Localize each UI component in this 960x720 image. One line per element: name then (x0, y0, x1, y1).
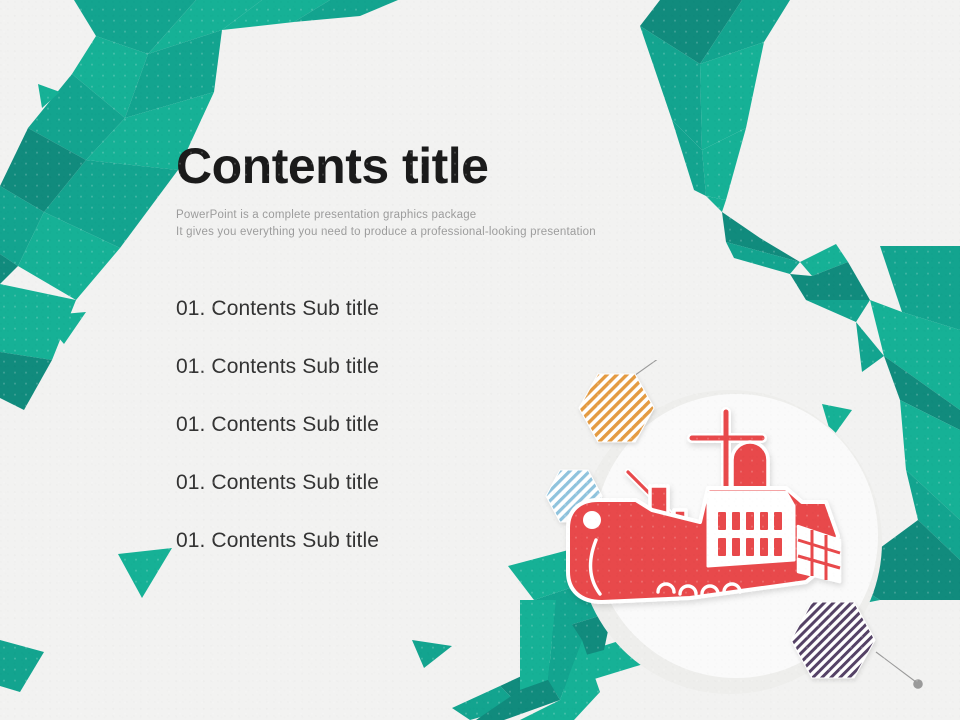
presentation-slide: Contents title PowerPoint is a complete … (0, 0, 960, 720)
list-item[interactable]: 01. Contents Sub title (176, 356, 379, 377)
list-item[interactable]: 01. Contents Sub title (176, 298, 379, 319)
subtitle-line-2: It gives you everything you need to prod… (176, 224, 696, 242)
subtitle-line-1: PowerPoint is a complete presentation gr… (176, 207, 696, 225)
ship-cabin (708, 492, 794, 566)
list-item[interactable]: 01. Contents Sub title (176, 414, 379, 435)
cargo-ship-graphic (540, 360, 960, 720)
contents-list: 01. Contents Sub title 01. Contents Sub … (176, 298, 379, 551)
list-item[interactable]: 01. Contents Sub title (176, 530, 379, 551)
ship-porthole (583, 511, 601, 529)
ship-illustration (540, 360, 960, 720)
pin-connector-bottom (876, 652, 923, 689)
ship-dome (732, 442, 768, 488)
slide-text-block: Contents title PowerPoint is a complete … (176, 140, 696, 242)
page-title: Contents title (176, 140, 696, 193)
list-item[interactable]: 01. Contents Sub title (176, 472, 379, 493)
